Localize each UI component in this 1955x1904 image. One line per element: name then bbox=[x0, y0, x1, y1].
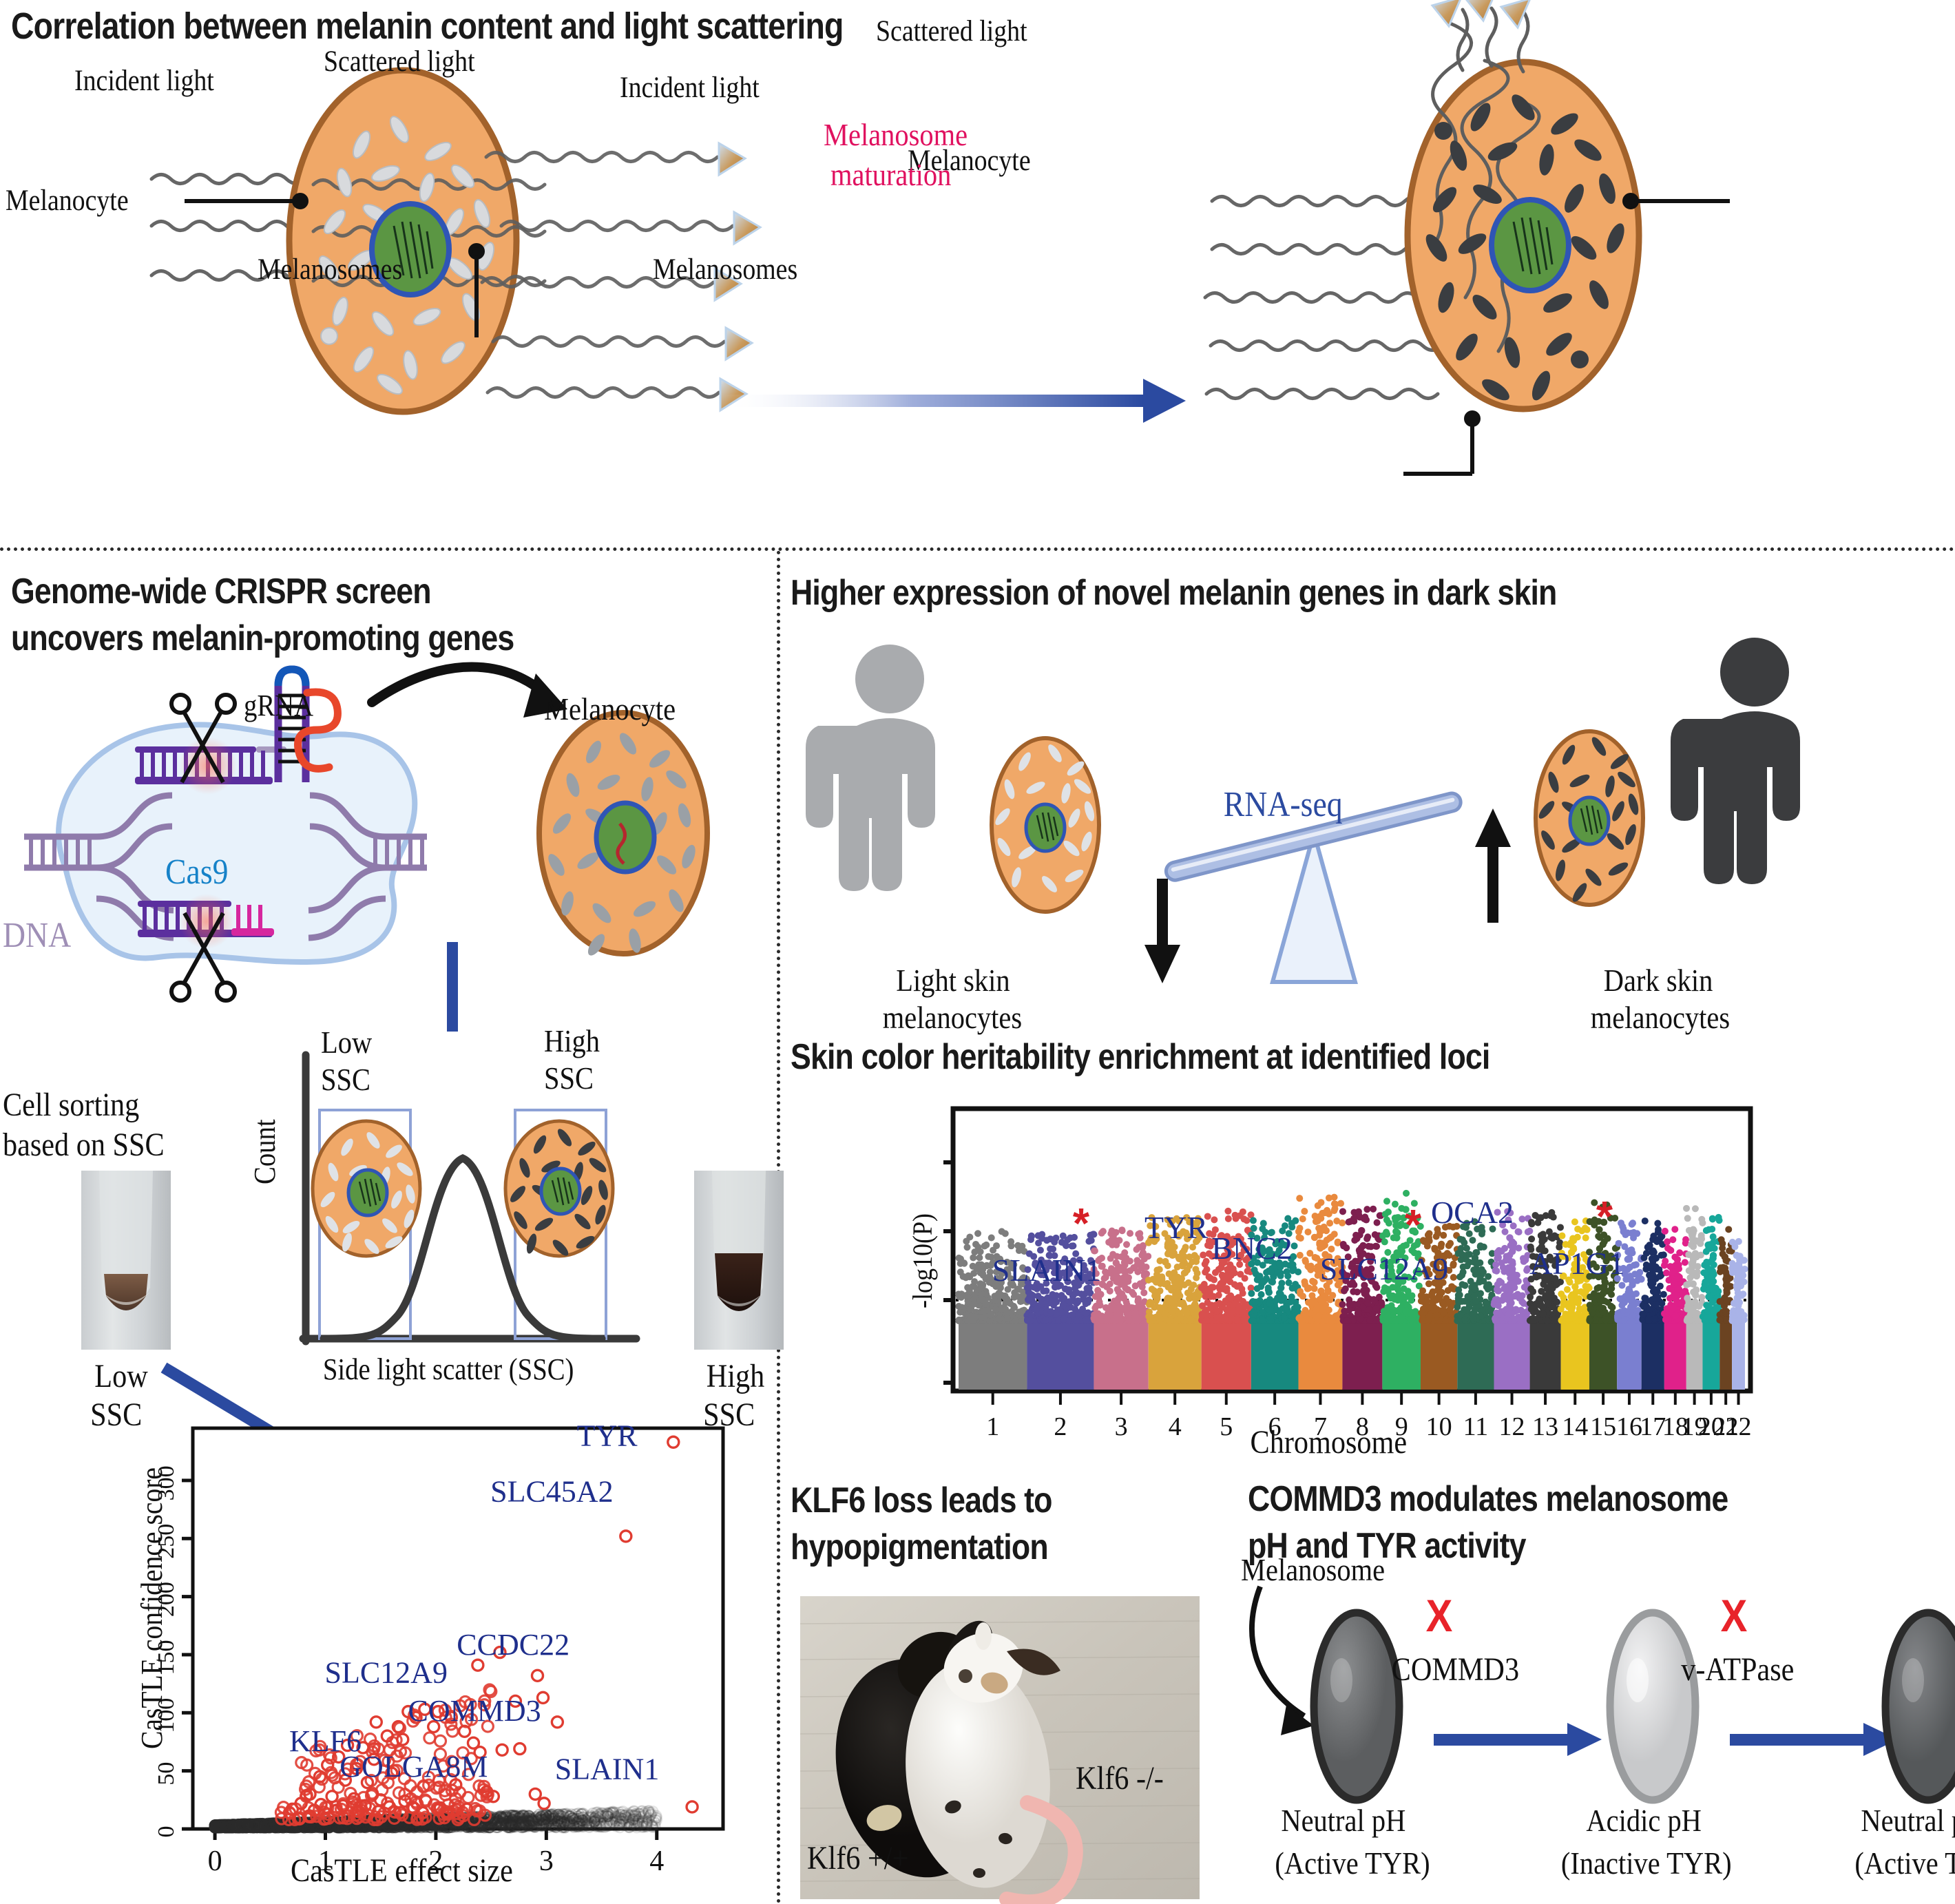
melanocyte-label-left: Melanocyte bbox=[6, 185, 129, 218]
light-skin-label-line2: melanocytes bbox=[883, 1000, 1022, 1036]
manhattan-chromosome-block bbox=[1719, 1319, 1732, 1390]
scattered-light-label-left: Scattered light bbox=[324, 45, 475, 79]
manhattan-chromosome-label: 10 bbox=[1426, 1412, 1452, 1441]
manhattan-chromosome-block bbox=[1642, 1319, 1664, 1390]
melanosome-leader-arrow bbox=[1252, 1587, 1314, 1735]
cell-sorting-label-line1: Cell sorting bbox=[3, 1087, 139, 1124]
commd3-state-2-line1: Acidic pH bbox=[1586, 1803, 1702, 1839]
manhattan-chromosome-block bbox=[1298, 1319, 1342, 1390]
tube-high-label-line1: High bbox=[707, 1358, 764, 1395]
low-ssc-cell-inset bbox=[313, 1121, 420, 1256]
commd3-state-1-line1: Neutral pH bbox=[1281, 1803, 1405, 1839]
melanosome-state-3 bbox=[1885, 1613, 1955, 1800]
manhattan-gene-annotation: OCA2 bbox=[1431, 1195, 1514, 1230]
dark-skin-label-line2: melanocytes bbox=[1591, 1000, 1730, 1036]
manhattan-gene-annotation: AP1G1 bbox=[1529, 1246, 1624, 1281]
commd3-x-mark-1: X bbox=[1426, 1591, 1453, 1642]
klf6-panel-title-line2: hypopigmentation bbox=[791, 1527, 1048, 1568]
cas9-label: Cas9 bbox=[165, 852, 229, 892]
high-ssc-cell-inset bbox=[505, 1121, 613, 1258]
commd3-melanosome-label: Melanosome bbox=[1241, 1552, 1385, 1588]
commd3-arrow-label-2: v-ATPase bbox=[1681, 1651, 1794, 1688]
manhattan-chromosome-block bbox=[1589, 1319, 1617, 1390]
crispr-melanocyte bbox=[539, 713, 707, 958]
crispr-melanocyte-label: Melanocyte bbox=[544, 691, 676, 727]
manhattan-chromosome-block bbox=[1027, 1319, 1094, 1390]
maturation-arrow-group bbox=[723, 379, 1186, 423]
manhattan-gene-annotation: SLC12A9 bbox=[1320, 1251, 1449, 1286]
low-ssc-tube-photo bbox=[81, 1171, 171, 1350]
castle-gene-annotation: SLAIN1 bbox=[555, 1752, 660, 1786]
maturation-label-line2: maturation bbox=[830, 157, 951, 193]
castle-gene-annotation: TYR bbox=[577, 1419, 638, 1452]
manhattan-chromosome-label: 2 bbox=[1054, 1412, 1067, 1441]
horizontal-divider bbox=[0, 547, 1955, 551]
incident-light-label-left: Incident light bbox=[74, 65, 214, 98]
maturation-label-line1: Melanosome bbox=[824, 117, 968, 153]
manhattan-chromosome-block bbox=[1342, 1319, 1382, 1390]
dna-label: DNA bbox=[3, 916, 71, 956]
person-icon-light bbox=[806, 645, 935, 891]
rnaseq-method-label: RNA-seq bbox=[1224, 785, 1343, 825]
manhattan-chromosome-block bbox=[1664, 1319, 1686, 1390]
manhattan-chromosome-block bbox=[1421, 1319, 1457, 1390]
manhattan-chromosome-block bbox=[1702, 1319, 1719, 1390]
commd3-state-2-line2: (Inactive TYR) bbox=[1561, 1845, 1732, 1881]
manhattan-chromosome-label: 15 bbox=[1590, 1412, 1616, 1441]
pathway-arrow-2 bbox=[1730, 1723, 1898, 1756]
castle-gene-annotation: COMMD3 bbox=[408, 1694, 541, 1728]
castle-y-tick-label: 0 bbox=[154, 1826, 179, 1838]
crispr-to-melanocyte-arrow bbox=[372, 667, 567, 718]
castle-y-tick-label: 50 bbox=[154, 1762, 179, 1786]
castle-x-tick-label: 0 bbox=[208, 1845, 222, 1877]
manhattan-chromosome-block bbox=[959, 1319, 1027, 1390]
castle-gene-annotation: SLC45A2 bbox=[490, 1474, 613, 1508]
left-melanocyte-group bbox=[151, 70, 760, 412]
melanosome-state-1 bbox=[1314, 1613, 1399, 1800]
manhattan-chromosome-label: 14 bbox=[1562, 1412, 1588, 1441]
right-melanocyte-group bbox=[1205, 0, 1730, 474]
klf6-ko-label: Klf6 -/- bbox=[1076, 1760, 1164, 1797]
cell-sorting-label-line2: based on SSC bbox=[3, 1127, 165, 1164]
grna-label: gRNA bbox=[244, 689, 313, 722]
manhattan-gene-annotation: TYR bbox=[1144, 1210, 1208, 1245]
person-icon-dark bbox=[1671, 638, 1800, 884]
commd3-state-1-line2: (Active TYR) bbox=[1275, 1845, 1430, 1881]
melanosomes-label-left: Melanosomes bbox=[258, 253, 402, 286]
castle-x-axis-label: CasTLE effect size bbox=[291, 1852, 513, 1890]
manhattan-chromosome-label: 3 bbox=[1115, 1412, 1128, 1441]
ssc-y-axis-label: Count bbox=[248, 1119, 282, 1184]
manhattan-chromosome-label: 4 bbox=[1169, 1412, 1182, 1441]
manhattan-chromosome-block bbox=[1382, 1319, 1421, 1390]
crispr-panel-title-line1: Genome-wide CRISPR screen bbox=[11, 572, 431, 612]
manhattan-star-marker: * bbox=[1596, 1193, 1613, 1241]
scattered-light-label-right: Scattered light bbox=[876, 15, 1027, 48]
manhattan-chromosome-label: 12 bbox=[1499, 1412, 1525, 1441]
scatter-arrowheads-right bbox=[1432, 0, 1530, 28]
castle-x-tick-label: 4 bbox=[649, 1845, 664, 1877]
light-skin-label-line1: Light skin bbox=[896, 963, 1010, 998]
pathway-arrow-1 bbox=[1434, 1723, 1602, 1756]
manhattan-chromosome-block bbox=[1732, 1319, 1745, 1390]
light-skin-melanocyte bbox=[992, 738, 1099, 912]
commd3-x-mark-2: X bbox=[1721, 1591, 1748, 1642]
commd3-pathway-graphic bbox=[1233, 1584, 1955, 1832]
manhattan-chromosome-block bbox=[1686, 1319, 1703, 1390]
manhattan-chromosome-label: 5 bbox=[1220, 1412, 1233, 1441]
klf6-panel-title-line1: KLF6 loss leads to bbox=[791, 1481, 1052, 1521]
manhattan-star-marker: * bbox=[1405, 1202, 1422, 1249]
manhattan-chromosome-block bbox=[1617, 1319, 1642, 1390]
down-arrow-light bbox=[1144, 879, 1180, 983]
castle-gene-annotation: CCDC22 bbox=[457, 1628, 569, 1662]
manhattan-gene-annotation: BNC2 bbox=[1211, 1231, 1293, 1266]
rnaseq-graphic bbox=[791, 640, 1954, 998]
manhattan-chromosome-block bbox=[1202, 1319, 1251, 1390]
manhattan-chromosome-block bbox=[1561, 1319, 1589, 1390]
incident-light-label-right: Incident light bbox=[620, 72, 760, 105]
manhattan-chromosome-label: 22 bbox=[1726, 1412, 1752, 1441]
manhattan-chromosome-block bbox=[1494, 1319, 1530, 1390]
castle-x-tick-label: 3 bbox=[539, 1845, 554, 1877]
manhattan-gene-annotation: SLAIN1 bbox=[992, 1253, 1101, 1288]
top-panel-graphic bbox=[0, 41, 1955, 544]
manhattan-chromosome-label: 11 bbox=[1463, 1412, 1489, 1441]
manhattan-chromosome-block bbox=[1457, 1319, 1494, 1390]
castle-gene-annotation: GOLGA8M bbox=[339, 1750, 488, 1783]
manhattan-x-axis-label: Chromosome bbox=[1251, 1424, 1408, 1461]
melanosomes-label-right: Melanosomes bbox=[653, 253, 797, 286]
dark-skin-melanocyte bbox=[1536, 731, 1643, 905]
commd3-state-3-line2: (Active TYR) bbox=[1854, 1845, 1955, 1881]
manhattan-chromosome-label: 1 bbox=[986, 1412, 999, 1441]
ssc-x-axis-label: Side light scatter (SSC) bbox=[323, 1352, 574, 1386]
tube-low-label-line1: Low bbox=[94, 1358, 147, 1395]
rnaseq-panel-title: Higher expression of novel melanin genes… bbox=[791, 573, 1557, 614]
dark-skin-label-line1: Dark skin bbox=[1604, 963, 1713, 998]
crispr-panel-title-line2: uncovers melanin-promoting genes bbox=[11, 618, 514, 659]
commd3-panel-title-line1: COMMD3 modulates melanosome bbox=[1248, 1479, 1728, 1520]
melanosome-state-2 bbox=[1610, 1613, 1695, 1800]
manhattan-chromosome-block bbox=[1149, 1319, 1202, 1390]
manhattan-chromosome-block bbox=[1094, 1319, 1148, 1390]
manhattan-y-axis-label: -log10(P) bbox=[908, 1213, 939, 1308]
manhattan-chromosome-block bbox=[1251, 1319, 1299, 1390]
klf6-wt-label: Klf6 +/+ bbox=[807, 1840, 908, 1877]
high-ssc-tube-photo bbox=[694, 1171, 784, 1350]
commd3-arrow-label-1: COMMD3 bbox=[1392, 1651, 1519, 1688]
castle-scatter-chart: 05010015020025030001234TYRSLC45A2CCDC22S… bbox=[103, 1419, 737, 1901]
up-arrow-dark bbox=[1475, 808, 1511, 923]
commd3-state-3-line1: Neutral pH bbox=[1861, 1803, 1955, 1839]
manhattan-chromosome-block bbox=[1530, 1319, 1561, 1390]
manhattan-star-marker: * bbox=[1073, 1200, 1090, 1248]
manhattan-chromosome-label: 13 bbox=[1532, 1412, 1558, 1441]
castle-y-axis-label: CasTLE confidence score bbox=[135, 1467, 169, 1749]
manhattan-chromosome-label: 16 bbox=[1616, 1412, 1642, 1441]
nucleus-right bbox=[1492, 200, 1569, 291]
manhattan-panel-title: Skin color heritability enrichment at id… bbox=[791, 1037, 1489, 1078]
castle-gene-annotation: SLC12A9 bbox=[324, 1655, 447, 1689]
sorting-down-arrow bbox=[447, 942, 458, 1032]
